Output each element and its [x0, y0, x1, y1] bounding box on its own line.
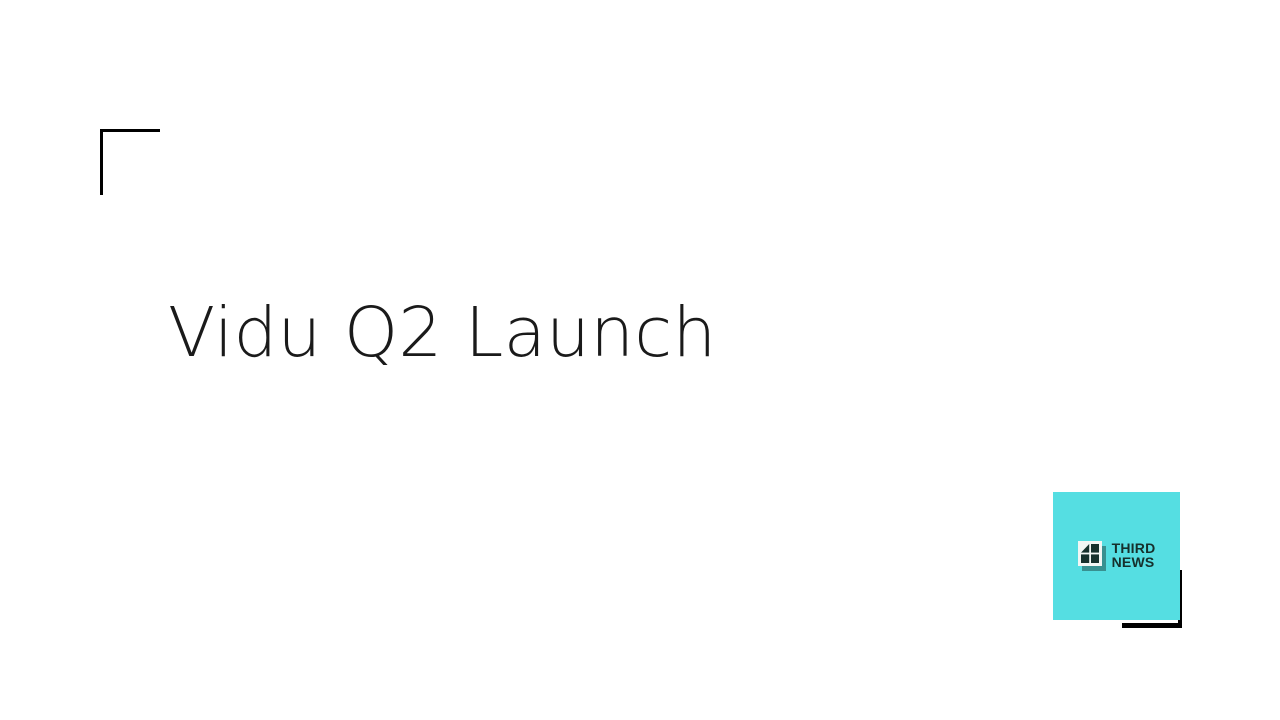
logo-wordmark-line-2: NEWS [1112, 556, 1156, 570]
page-title: Vidu Q2 Launch [168, 296, 1068, 371]
top-left-corner-bracket-icon [100, 129, 160, 195]
logo-content: THIRD NEWS [1053, 492, 1180, 620]
slide-canvas: Vidu Q2 Launch [0, 0, 1280, 720]
bracket-vertical-bar [100, 129, 103, 195]
newspaper-window-icon [1078, 541, 1106, 571]
logo-wordmark: THIRD NEWS [1112, 542, 1156, 569]
brand-logo-lockup: THIRD NEWS [1053, 492, 1182, 628]
bracket-horizontal-bar [100, 129, 160, 132]
title-block: Vidu Q2 Launch [168, 296, 1068, 371]
accent-horizontal-bar [1122, 623, 1182, 628]
